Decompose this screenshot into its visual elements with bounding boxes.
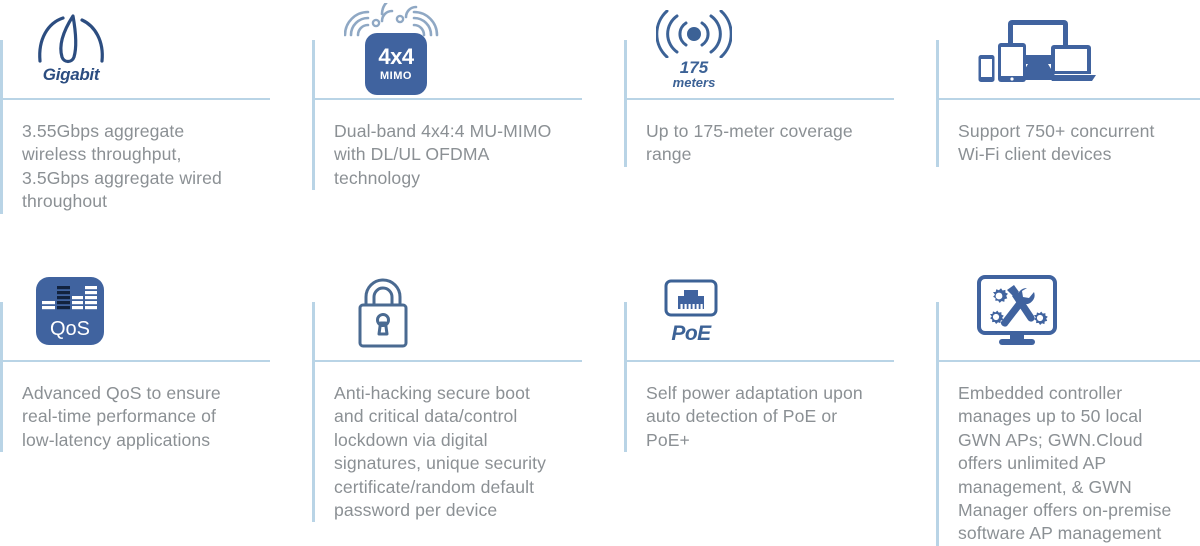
icon-area: PoE xyxy=(624,262,894,360)
cell-divider xyxy=(312,98,582,100)
gigabit-icon-label: Gigabit xyxy=(43,65,99,85)
coverage-distance-unit: meters xyxy=(673,76,716,89)
gigabit-icon xyxy=(32,13,110,65)
cell-divider xyxy=(0,98,270,100)
feature-card-mimo: 4x4 MIMO Dual-band 4x4:4 MU-MIMO with DL… xyxy=(312,0,582,190)
cell-divider xyxy=(936,360,1200,362)
qos-badge-label: QoS xyxy=(50,319,90,339)
poe-icon-label: PoE xyxy=(671,323,710,344)
cell-divider xyxy=(624,360,894,362)
multi-device-icon xyxy=(976,13,1096,85)
feature-grid: Gigabit 3.55Gbps aggregate wireless thro… xyxy=(0,0,1200,523)
feature-card-coverage: 175 meters Up to 175-meter coverage rang… xyxy=(624,0,894,167)
feature-description: Embedded controller manages up to 50 loc… xyxy=(936,360,1200,546)
coverage-distance-value: 175 xyxy=(673,59,716,76)
padlock-icon xyxy=(352,273,414,349)
feature-description: Up to 175-meter coverage range xyxy=(624,98,894,167)
feature-card-gigabit: Gigabit 3.55Gbps aggregate wireless thro… xyxy=(0,0,270,214)
feature-description: 3.55Gbps aggregate wireless throughput, … xyxy=(0,98,270,214)
icon-area xyxy=(312,262,582,360)
embedded-controller-icon xyxy=(976,274,1058,348)
feature-description: Dual-band 4x4:4 MU-MIMO with DL/UL OFDMA… xyxy=(312,98,582,190)
equalizer-icon xyxy=(42,285,98,317)
feature-card-poe: PoE Self power adaptation upon auto dete… xyxy=(624,262,894,452)
icon-area xyxy=(936,0,1200,98)
poe-port-icon xyxy=(664,279,718,321)
wifi-waves-icon xyxy=(344,3,448,37)
mimo-badge-subtitle: MIMO xyxy=(380,71,412,82)
cell-divider xyxy=(0,360,270,362)
feature-description: Advanced QoS to ensure real-time perform… xyxy=(0,360,270,452)
coverage-range-icon-label: 175 meters xyxy=(673,59,716,89)
qos-badge-icon: QoS xyxy=(36,277,104,345)
feature-card-clients: Support 750+ concurrent Wi-Fi client dev… xyxy=(936,0,1200,167)
cell-divider xyxy=(312,360,582,362)
icon-area: QoS xyxy=(0,262,270,360)
icon-area: 4x4 MIMO xyxy=(312,0,582,98)
icon-area: Gigabit xyxy=(0,0,270,98)
feature-card-qos: QoS Advanced QoS to ensure real-time per… xyxy=(0,262,270,452)
feature-description: Self power adaptation upon auto detectio… xyxy=(624,360,894,452)
feature-card-security: Anti-hacking secure boot and critical da… xyxy=(312,262,582,522)
icon-area: 175 meters xyxy=(624,0,894,98)
feature-description: Support 750+ concurrent Wi-Fi client dev… xyxy=(936,98,1200,167)
cell-divider xyxy=(624,98,894,100)
mimo-badge-title: 4x4 xyxy=(378,46,413,68)
signal-waves-icon xyxy=(656,10,732,58)
cell-divider xyxy=(936,98,1200,100)
mimo-badge-icon: 4x4 MIMO xyxy=(365,33,427,95)
icon-area xyxy=(936,262,1200,360)
feature-description: Anti-hacking secure boot and critical da… xyxy=(312,360,582,522)
feature-card-controller: Embedded controller manages up to 50 loc… xyxy=(936,262,1200,546)
